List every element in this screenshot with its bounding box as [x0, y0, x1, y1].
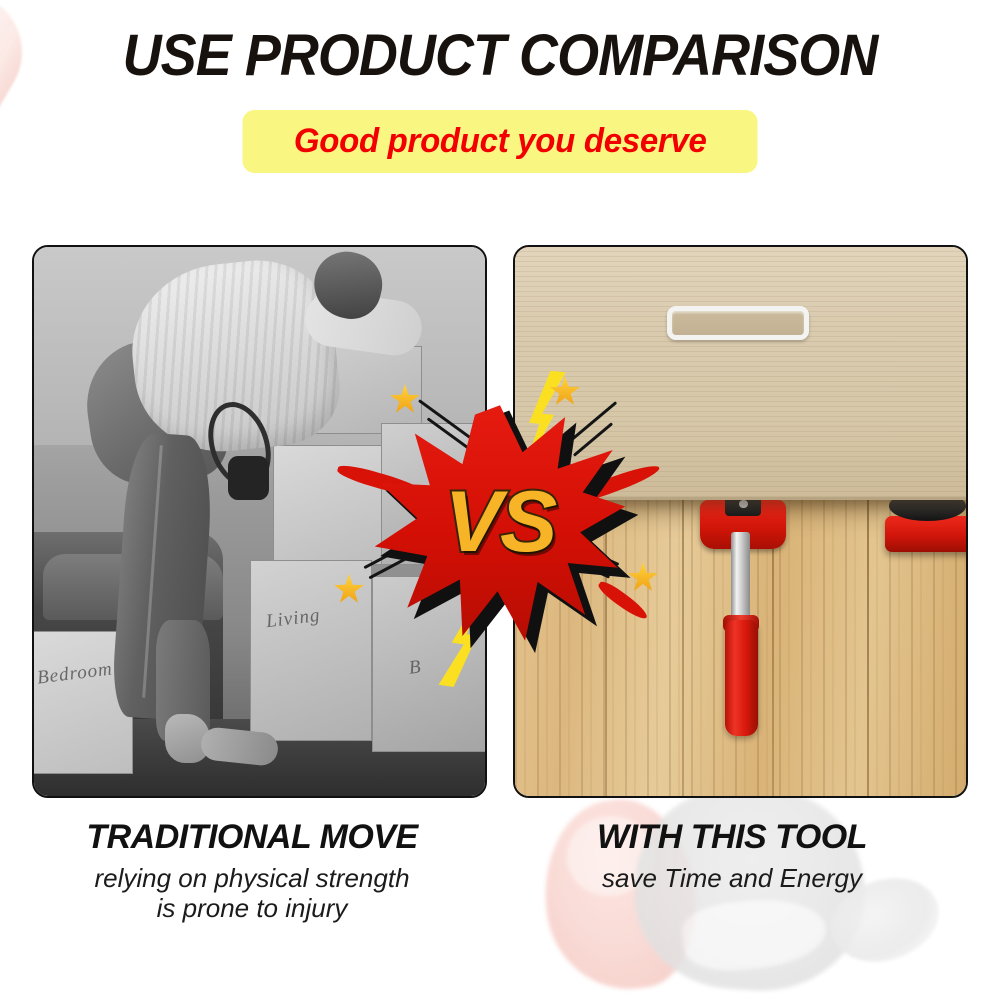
- person-bag-pouch: [228, 456, 269, 500]
- vs-label: VS: [326, 473, 674, 572]
- page-title: USE PRODUCT COMPARISON: [35, 22, 965, 89]
- caption-subtitle-line1: relying on physical strength: [42, 863, 462, 893]
- caption-with-this-tool: WITH THIS TOOL save Time and Energy: [522, 818, 942, 893]
- spark-streak: [573, 422, 613, 456]
- caption-subtitle-line1: save Time and Energy: [522, 863, 942, 893]
- furniture-handle: [667, 306, 810, 340]
- lifter-red-grip: [725, 620, 757, 735]
- caption-traditional-move: TRADITIONAL MOVE relying on physical str…: [42, 818, 462, 923]
- subtitle-text: Good product you deserve: [294, 122, 707, 161]
- box-label-bedroom: Bedroom: [36, 659, 114, 690]
- furniture-roller-dolly: [885, 516, 968, 552]
- spark-streak: [418, 399, 478, 444]
- star-icon: [390, 384, 420, 414]
- subtitle-banner: Good product you deserve: [243, 110, 758, 173]
- vs-burst-badge: VS: [326, 368, 674, 678]
- caption-title: TRADITIONAL MOVE: [42, 818, 462, 857]
- speed-line: [596, 578, 651, 623]
- star-icon: [334, 574, 364, 604]
- caption-title: WITH THIS TOOL: [522, 818, 942, 857]
- box-label-living: Living: [265, 604, 322, 632]
- caption-subtitle-line2: is prone to injury: [42, 893, 462, 923]
- lifter-screw: [739, 500, 748, 509]
